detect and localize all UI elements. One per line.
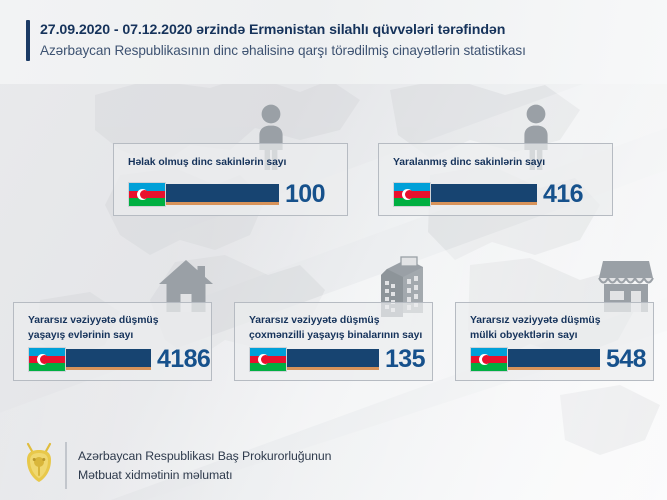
stat-bar-deaths xyxy=(166,184,279,205)
footer-line-1: Azərbaycan Respublikası Baş Prokurorluğu… xyxy=(78,447,331,465)
footer-inner: Azərbaycan Respublikası Baş Prokurorluğu… xyxy=(22,442,331,489)
header-texts: 27.09.2020 - 07.12.2020 ərzində Ermənist… xyxy=(40,20,526,61)
stat-card-label-houses-line2: yaşayış evlərinin sayı xyxy=(28,330,133,341)
stat-bar-wrap-wounded xyxy=(431,184,537,205)
stat-value-houses: 4186 xyxy=(157,347,210,372)
stat-card-label-apartments-line1: Yararsız vəziyyətə düşmüş xyxy=(249,315,379,326)
footer-divider xyxy=(65,442,67,489)
stat-card-houses: Yararsız vəziyyətə düşmüş yaşayış evləri… xyxy=(13,302,212,381)
azerbaijan-flag-icon xyxy=(470,347,508,372)
stat-bar-wrap-deaths xyxy=(166,184,279,205)
azerbaijan-flag-icon xyxy=(249,347,287,372)
page-subtitle: Azərbaycan Respublikasının dinc əhalisin… xyxy=(40,41,526,61)
stat-card-label-wounded: Yaralanmış dinc sakinlərin sayı xyxy=(393,156,545,171)
emblem-svg xyxy=(22,442,56,484)
stat-value-apartments: 135 xyxy=(385,347,425,372)
azerbaijan-flag-icon xyxy=(128,182,166,207)
stat-card-label-houses-line1: Yararsız vəziyyətə düşmüş xyxy=(28,315,158,326)
page-title: 27.09.2020 - 07.12.2020 ərzində Ermənist… xyxy=(40,20,526,41)
stat-value-deaths: 100 xyxy=(285,182,325,207)
stat-bar-row-apartments: 135 xyxy=(249,347,425,372)
azerbaijan-flag-icon xyxy=(393,182,431,207)
stat-card-label-houses: Yararsız vəziyyətə düşmüş yaşayış evləri… xyxy=(28,314,158,344)
stat-value-civil-objects: 548 xyxy=(606,347,646,372)
stat-bar-wrap-houses xyxy=(66,349,151,370)
stat-bar-apartments xyxy=(287,349,379,370)
header-inner: 27.09.2020 - 07.12.2020 ərzində Ermənist… xyxy=(26,20,526,61)
stat-card-label-deaths: Həlak olmuş dinc sakinlərin sayı xyxy=(128,156,286,171)
infographic-root: 27.09.2020 - 07.12.2020 ərzində Ermənist… xyxy=(0,0,667,500)
stat-bar-wrap-civil-objects xyxy=(508,349,600,370)
stat-bar-row-civil-objects: 548 xyxy=(470,347,646,372)
stat-bar-wounded xyxy=(431,184,537,205)
azerbaijan-flag-icon xyxy=(28,347,66,372)
stat-card-apartments: Yararsız vəziyyətə düşmüş çoxmənzilli ya… xyxy=(234,302,433,381)
prosecutor-general-emblem-icon xyxy=(22,442,56,489)
stat-card-label-apartments-line2: çoxmənzilli yaşayış binalarının sayı xyxy=(249,330,422,341)
stat-card-label-civil-objects-line2: mülki obyektlərin sayı xyxy=(470,330,577,341)
header: 27.09.2020 - 07.12.2020 ərzində Ermənist… xyxy=(0,0,667,84)
stat-card-label-civil-objects: Yararsız vəziyyətə düşmüş mülki obyektlə… xyxy=(470,314,600,344)
stat-bar-row-houses: 4186 xyxy=(28,347,210,372)
footer-texts: Azərbaycan Respublikası Baş Prokurorluğu… xyxy=(78,447,331,484)
stat-bar-civil-objects xyxy=(508,349,600,370)
stat-card-wounded: Yaralanmış dinc sakinlərin sayı 416 xyxy=(378,143,613,216)
stat-value-wounded: 416 xyxy=(543,182,583,207)
footer: Azərbaycan Respublikası Baş Prokurorluğu… xyxy=(0,428,667,500)
footer-line-2: Mətbuat xidmətinin məlumatı xyxy=(78,466,331,484)
stat-card-label-apartments: Yararsız vəziyyətə düşmüş çoxmənzilli ya… xyxy=(249,314,422,344)
header-accent-bar xyxy=(26,20,30,61)
stat-bar-wrap-apartments xyxy=(287,349,379,370)
stat-card-civil-objects: Yararsız vəziyyətə düşmüş mülki obyektlə… xyxy=(455,302,654,381)
stat-card-label-civil-objects-line1: Yararsız vəziyyətə düşmüş xyxy=(470,315,600,326)
stat-bar-row-deaths: 100 xyxy=(128,182,325,207)
stat-bar-houses xyxy=(66,349,151,370)
stat-bar-row-wounded: 416 xyxy=(393,182,583,207)
stat-card-deaths: Həlak olmuş dinc sakinlərin sayı 100 xyxy=(113,143,348,216)
